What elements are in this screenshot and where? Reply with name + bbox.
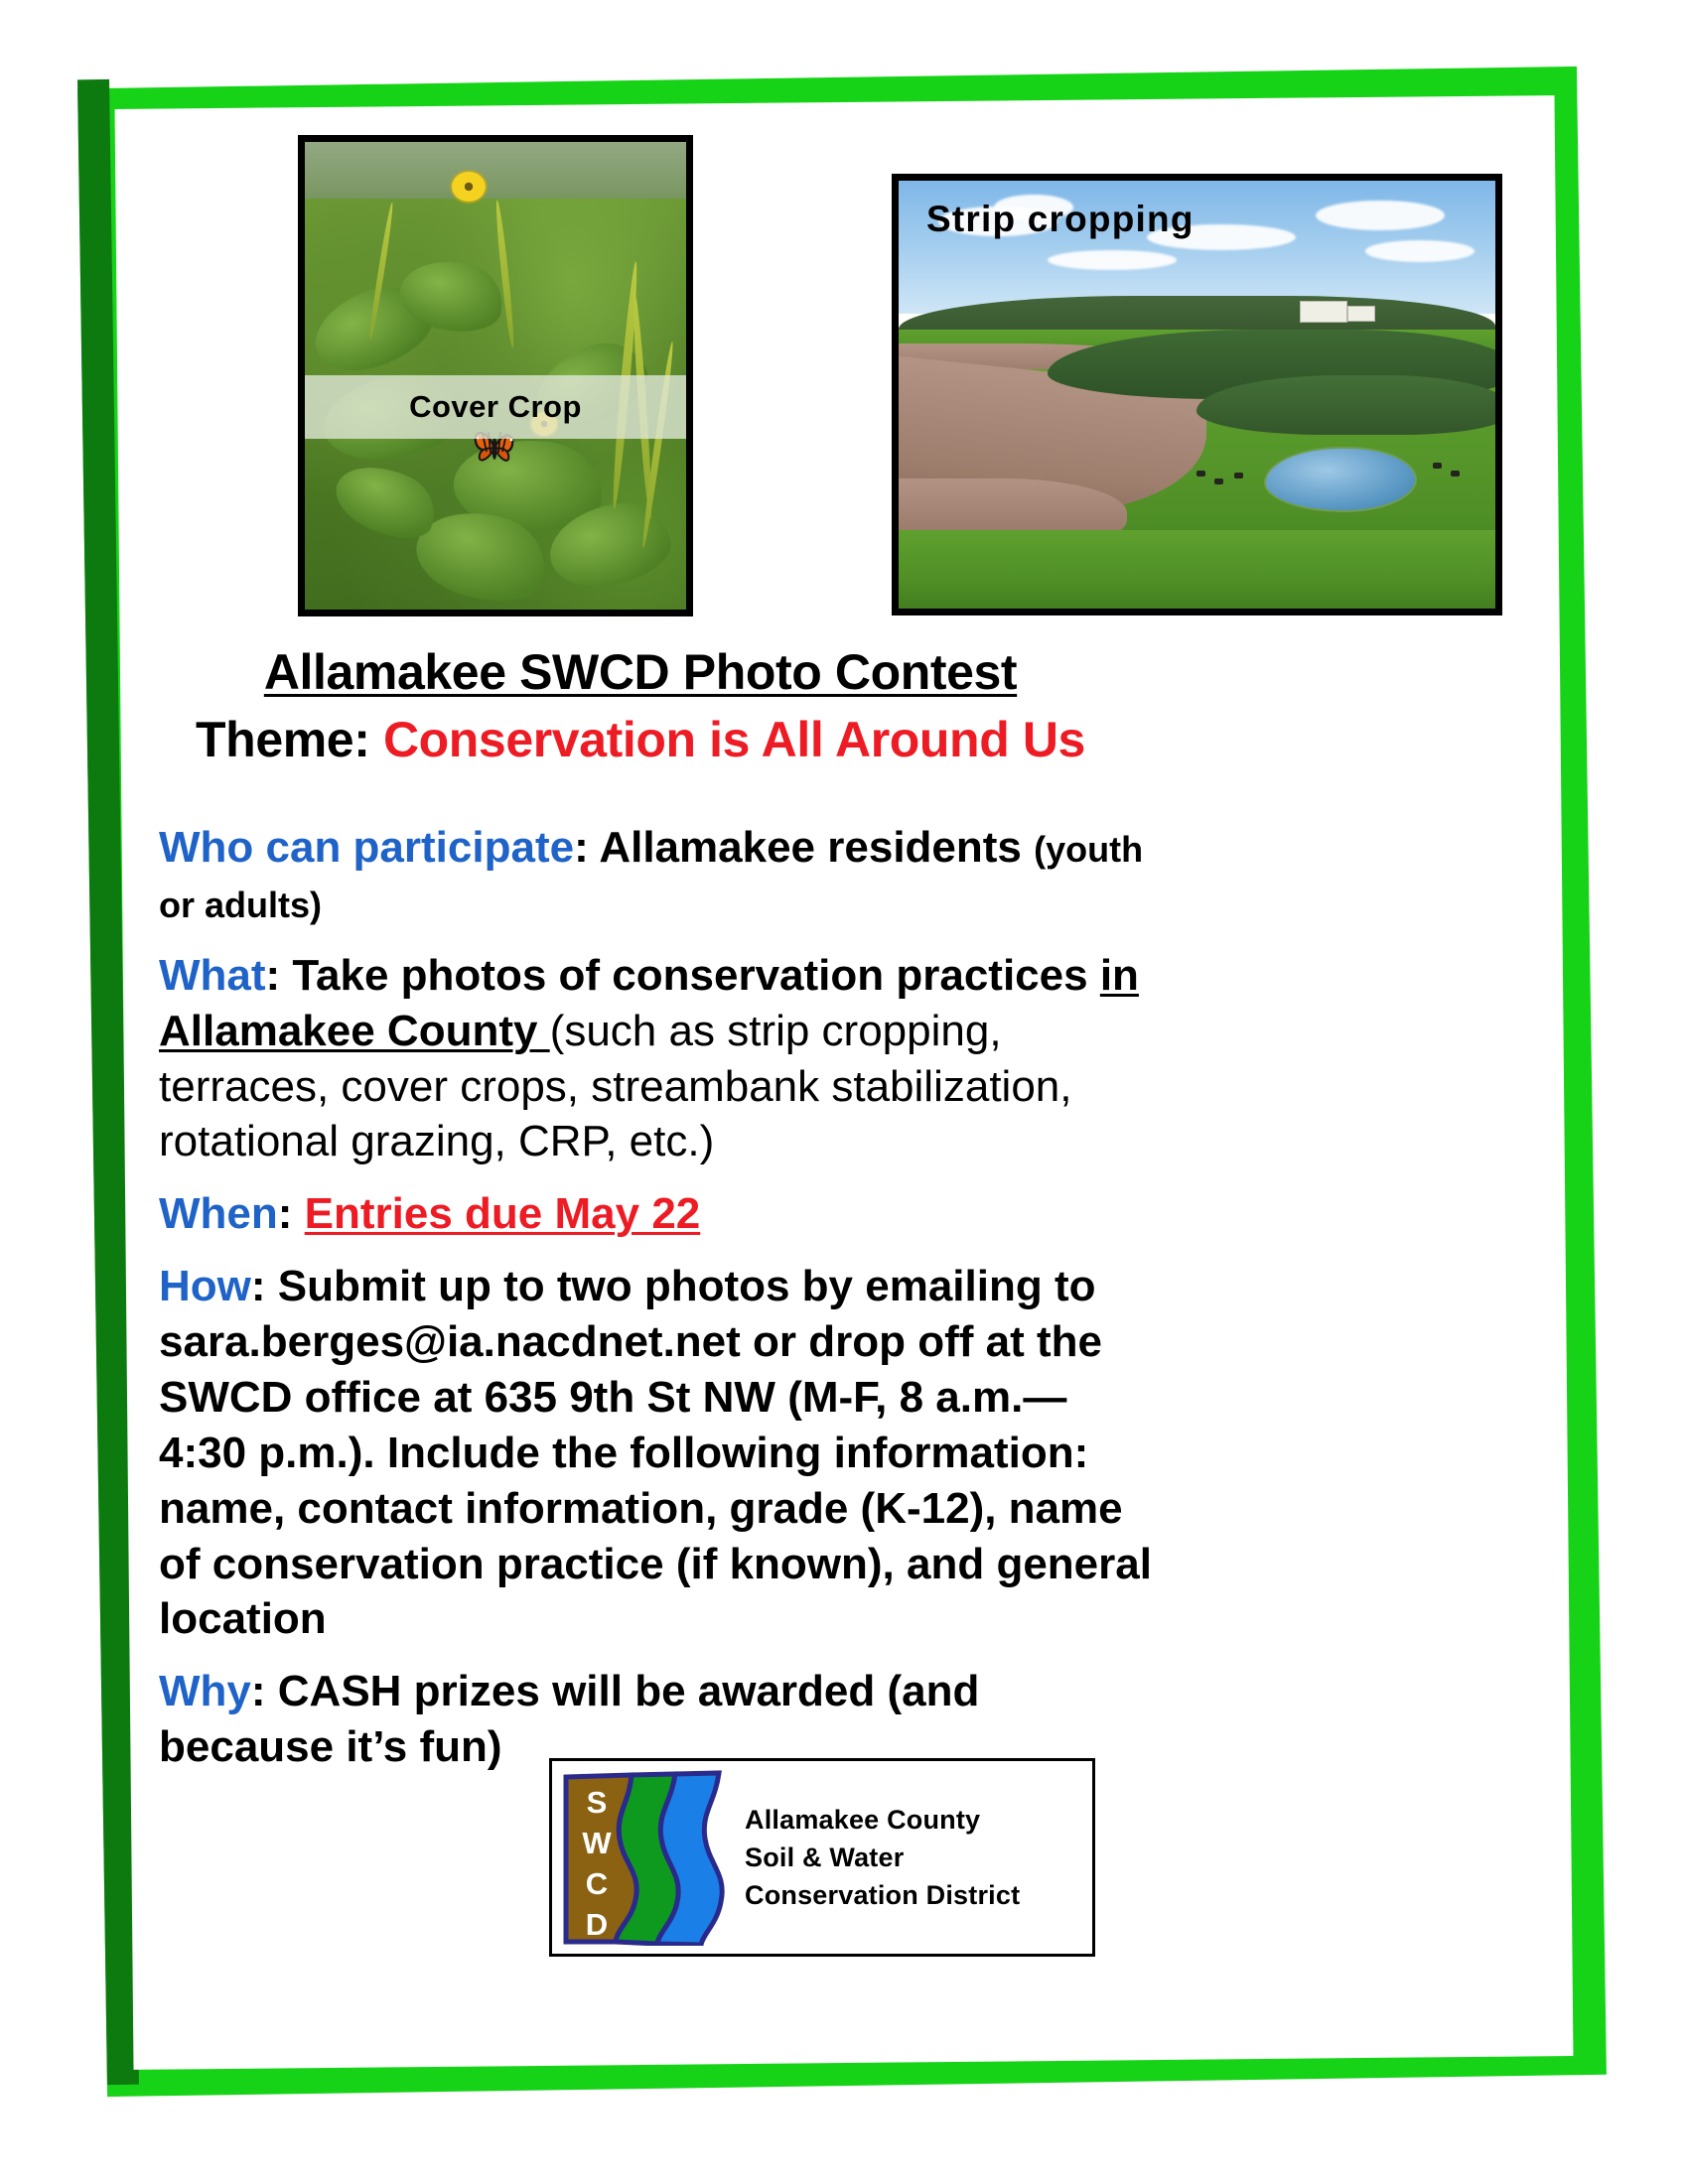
cloud	[1365, 240, 1475, 262]
cloud	[1048, 250, 1177, 270]
what-paragraph: What: Take photos of conservation practi…	[159, 948, 1152, 1170]
who-value: Allamakee residents	[599, 823, 1034, 872]
cloud	[1316, 201, 1445, 230]
grass-foreground	[899, 530, 1495, 614]
farm-building	[1300, 301, 1347, 323]
how-label: How	[159, 1262, 251, 1310]
what-label: What	[159, 951, 266, 1000]
swcd-logo-text: Allamakee County Soil & Water Conservati…	[745, 1801, 1020, 1915]
poster-content: Cover Crop	[0, 0, 1688, 2184]
strip-cropping-photo: Strip cropping	[892, 174, 1502, 615]
how-value: Submit up to two photos by emailing to s…	[159, 1262, 1152, 1643]
when-colon: :	[278, 1189, 305, 1238]
who-label: Who can participate	[159, 823, 574, 872]
cover-crop-caption: Cover Crop	[409, 389, 582, 425]
woods	[1196, 375, 1502, 435]
body-copy: Who can participate: Allamakee residents…	[159, 820, 1152, 1792]
how-colon: :	[251, 1262, 278, 1310]
page-title-text: Allamakee SWCD Photo Contest	[264, 644, 1017, 700]
theme-label: Theme:	[196, 712, 383, 767]
logo-line-2: Soil & Water	[745, 1839, 1020, 1876]
farm-pond	[1264, 447, 1417, 512]
swcd-initials: S W C D	[576, 1783, 618, 1946]
cow	[1196, 471, 1205, 477]
when-paragraph: When: Entries due May 22	[159, 1186, 1152, 1242]
why-value: CASH prizes will be awarded (and because…	[159, 1667, 979, 1771]
what-lead: Take photos of conservation practices	[292, 951, 1099, 1000]
cow	[1433, 463, 1442, 469]
who-paragraph: Who can participate: Allamakee residents…	[159, 820, 1152, 931]
logo-line-1: Allamakee County	[745, 1801, 1020, 1839]
logo-letter-w: W	[576, 1824, 618, 1864]
when-label: When	[159, 1189, 278, 1238]
how-paragraph: How: Submit up to two photos by emailing…	[159, 1259, 1152, 1647]
cow	[1214, 478, 1223, 484]
theme-line: Theme: Conservation is All Around Us	[139, 711, 1142, 768]
logo-letter-d: D	[576, 1905, 618, 1946]
logo-line-3: Conservation District	[745, 1876, 1020, 1914]
strip-cropping-caption: Strip cropping	[926, 199, 1195, 240]
poster-page: Cover Crop	[0, 0, 1688, 2184]
cow	[1234, 473, 1243, 478]
page-title: Allamakee SWCD Photo Contest	[139, 643, 1142, 701]
logo-letter-c: C	[576, 1864, 618, 1905]
when-value: Entries due May 22	[305, 1189, 701, 1238]
cover-crop-caption-banner: Cover Crop	[305, 375, 686, 439]
who-colon: :	[574, 823, 599, 872]
cow	[1451, 471, 1460, 477]
theme-value: Conservation is All Around Us	[383, 712, 1085, 767]
swcd-logo-mark-icon: S W C D	[560, 1769, 729, 1946]
why-label: Why	[159, 1667, 251, 1715]
logo-letter-s: S	[576, 1783, 618, 1824]
why-colon: :	[251, 1667, 278, 1715]
yellow-flower	[452, 172, 486, 202]
farm-building	[1347, 306, 1375, 322]
swcd-logo: S W C D Allamakee County Soil & Water Co…	[549, 1758, 1095, 1957]
cover-crop-photo: Cover Crop	[298, 135, 693, 616]
what-colon: :	[266, 951, 293, 1000]
